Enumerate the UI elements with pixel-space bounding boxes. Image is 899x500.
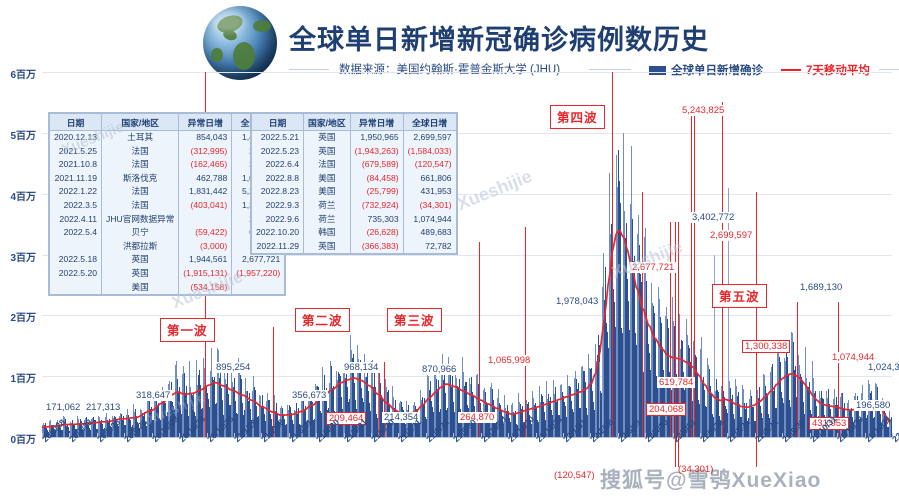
cell-abnormal <box>179 213 232 227</box>
cell-abnormal: (732,924) <box>350 199 403 213</box>
cell-date: 2021.5.25 <box>50 145 102 159</box>
cell-abnormal: 1,950,965 <box>350 131 403 145</box>
cell-abnormal: (162,465) <box>179 158 232 172</box>
cell-country: 法国 <box>102 145 179 159</box>
data-value-label: 318,647 <box>134 390 172 401</box>
table-header-cell: 国家/地区 <box>102 114 179 131</box>
anomaly-table-right: 日期国家/地区异常日增全球日增2022.5.21英国1,950,9652,699… <box>250 112 458 255</box>
table-row: 2022.5.18英国1,944,5612,677,721 <box>50 253 285 267</box>
y-axis-tick-label: 6百万 <box>0 66 36 81</box>
event-marker-line <box>612 72 613 437</box>
cell-country: 荷兰 <box>304 213 351 227</box>
event-marker-line <box>642 192 643 437</box>
table-row: 2022.5.20英国(1,915,131)(1,957,220) <box>50 267 285 281</box>
table-header-cell: 国家/地区 <box>304 114 351 131</box>
table-row: 2022.11.29英国(366,383)72,782 <box>252 240 457 254</box>
event-marker-line <box>691 112 692 437</box>
cell-abnormal: 462,788 <box>179 172 232 186</box>
wave-label: 第五波 <box>712 284 767 308</box>
table-header-cell: 全球日增 <box>403 114 456 131</box>
cell-country: 贝宁 <box>102 226 179 240</box>
table-row: 2022.6.4法国(679,589)(120,547) <box>252 158 457 172</box>
table-row: 2022.8.8美国(84,458)661,806 <box>252 172 457 186</box>
cell-date: 2022.9.6 <box>252 213 304 227</box>
cell-date <box>50 240 102 254</box>
cell-global: 661,806 <box>403 172 456 186</box>
cell-country: 法国 <box>102 158 179 172</box>
cell-global <box>232 281 285 295</box>
cell-abnormal: (84,458) <box>350 172 403 186</box>
cell-abnormal: 1,944,561 <box>179 253 232 267</box>
cell-date: 2022.4.11 <box>50 213 102 227</box>
cell-date: 2022.8.8 <box>252 172 304 186</box>
cell-date: 2022.10.20 <box>252 226 304 240</box>
wave-label: 第三波 <box>387 308 442 332</box>
cell-abnormal: 854,043 <box>179 131 232 145</box>
cell-global: (120,547) <box>403 158 456 172</box>
page-title: 全球单日新增新冠确诊病例数历史 <box>289 18 709 57</box>
table-row: 2022.10.20韩国(26,628)489,683 <box>252 226 457 240</box>
cell-country: 英国 <box>304 145 351 159</box>
cell-date: 2022.11.29 <box>252 240 304 254</box>
data-value-label: 1,689,130 <box>798 282 844 293</box>
data-value-label: 870,966 <box>420 364 458 375</box>
cell-abnormal: 1,831,442 <box>179 185 232 199</box>
negative-value-label: (34,301) <box>676 464 715 475</box>
cell-abnormal: (312,995) <box>179 145 232 159</box>
cell-global: 2,677,721 <box>232 253 285 267</box>
wave-label: 第四波 <box>550 105 605 129</box>
event-marker-line <box>479 242 480 437</box>
data-value-label: 1,300,338 <box>742 340 790 353</box>
data-value-label: 204,068 <box>646 403 686 416</box>
data-value-label: 356,673 <box>290 390 328 401</box>
cell-country: 英国 <box>102 253 179 267</box>
event-marker-line <box>756 192 757 467</box>
cell-date: 2022.9.3 <box>252 199 304 213</box>
data-value-label: 1,024,367 <box>866 362 899 373</box>
y-axis-tick-label: 0百万 <box>0 431 36 446</box>
cell-country: 韩国 <box>304 226 351 240</box>
cell-global: 1,074,944 <box>403 213 456 227</box>
y-axis-tick-label: 1百万 <box>0 370 36 385</box>
y-axis-tick-label: 4百万 <box>0 188 36 203</box>
data-value-label: 619,784 <box>657 377 695 388</box>
cell-date: 2020.12.13 <box>50 131 102 145</box>
cell-date: 2022.5.23 <box>252 145 304 159</box>
cell-country: 荷兰 <box>304 199 351 213</box>
data-value-label: 5,243,825 <box>680 105 726 116</box>
cell-date: 2022.5.21 <box>252 131 304 145</box>
cell-country: 土耳其 <box>102 131 179 145</box>
data-value-label: 3,402,772 <box>690 212 736 223</box>
cell-date <box>50 281 102 295</box>
chart-page: 全球单日新增新冠确诊病例数历史 数据来源：美国约翰斯·霍普金斯大学 (JHU) … <box>0 0 899 500</box>
cell-date: 2021.11.19 <box>50 172 102 186</box>
globe-icon <box>203 6 277 80</box>
cell-abnormal: (26,628) <box>350 226 403 240</box>
wave-label: 第一波 <box>160 318 215 342</box>
table-header-cell: 异常日增 <box>350 114 403 131</box>
data-value-label: 171,062 <box>44 402 82 413</box>
table-row: 2022.5.21英国1,950,9652,699,597 <box>252 131 457 145</box>
cell-country: JHU官网数据异常 <box>102 213 179 227</box>
cell-country: 法国 <box>304 158 351 172</box>
event-marker-line <box>797 302 798 437</box>
cell-date: 2022.8.23 <box>252 185 304 199</box>
cell-date: 2022.5.4 <box>50 226 102 240</box>
data-value-label: 895,254 <box>214 362 252 373</box>
cell-country: 法国 <box>102 199 179 213</box>
table-header-cell: 日期 <box>252 114 304 131</box>
cell-abnormal: (534,158) <box>179 281 232 295</box>
cell-abnormal: 735,303 <box>350 213 403 227</box>
cell-global: (1,957,220) <box>232 267 285 281</box>
data-value-label: 264,870 <box>458 412 496 423</box>
wave-label: 第二波 <box>295 308 350 332</box>
legend-line-swatch-icon <box>781 69 801 71</box>
data-value-label: 196,580 <box>854 400 892 411</box>
event-marker-line <box>525 227 526 437</box>
cell-abnormal: (403,041) <box>179 199 232 213</box>
cell-global: 431,953 <box>403 185 456 199</box>
data-value-label: 1,065,998 <box>486 355 532 366</box>
cell-date: 2022.6.4 <box>252 158 304 172</box>
cell-country: 英国 <box>304 240 351 254</box>
cell-country: 美国 <box>102 281 179 295</box>
negative-value-label: (120,547) <box>552 470 597 481</box>
y-axis-tick-label: 5百万 <box>0 127 36 142</box>
cell-abnormal: (59,422) <box>179 226 232 240</box>
cell-abnormal: (679,589) <box>350 158 403 172</box>
data-value-label: 2,677,721 <box>630 262 676 273</box>
y-axis-tick-label: 3百万 <box>0 249 36 264</box>
cell-global: (1,584,033) <box>403 145 456 159</box>
cell-date: 2022.1.22 <box>50 185 102 199</box>
table-row: 2022.9.6荷兰735,3031,074,944 <box>252 213 457 227</box>
data-value-label: 217,313 <box>84 402 122 413</box>
cell-global: 72,782 <box>403 240 456 254</box>
data-value-label: 1,978,043 <box>554 296 600 307</box>
cell-country: 美国 <box>304 185 351 199</box>
cell-date: 2022.3.5 <box>50 199 102 213</box>
cell-global: 489,683 <box>403 226 456 240</box>
cell-country: 斯洛伐克 <box>102 172 179 186</box>
cell-country: 英国 <box>102 267 179 281</box>
cell-country: 美国 <box>304 172 351 186</box>
cell-global: (34,301) <box>403 199 456 213</box>
table-header-cell: 日期 <box>50 114 102 131</box>
cell-global: 2,699,597 <box>403 131 456 145</box>
y-axis-tick-label: 2百万 <box>0 309 36 324</box>
cell-date: 2022.5.18 <box>50 253 102 267</box>
table-row: 2022.5.23英国(1,943,263)(1,584,033) <box>252 145 457 159</box>
cell-abnormal: (366,383) <box>350 240 403 254</box>
event-marker-line <box>694 112 695 437</box>
cell-country: 英国 <box>304 131 351 145</box>
cell-date: 2021.10.8 <box>50 158 102 172</box>
table-header-cell: 异常日增 <box>179 114 232 131</box>
cell-abnormal: (25,799) <box>350 185 403 199</box>
table-row: 美国(534,158) <box>50 281 285 295</box>
cell-abnormal: (3,000) <box>179 240 232 254</box>
data-value-label: 968,134 <box>342 362 380 373</box>
event-marker-line <box>722 102 723 437</box>
cell-date: 2022.5.20 <box>50 267 102 281</box>
cell-country: 洪都拉斯 <box>102 240 179 254</box>
cell-abnormal: (1,943,263) <box>350 145 403 159</box>
table-row: 2022.8.23美国(25,799)431,953 <box>252 185 457 199</box>
cell-country: 法国 <box>102 185 179 199</box>
table-row: 2022.9.3荷兰(732,924)(34,301) <box>252 199 457 213</box>
cell-abnormal: (1,915,131) <box>179 267 232 281</box>
data-value-label: 2,699,597 <box>708 230 754 241</box>
